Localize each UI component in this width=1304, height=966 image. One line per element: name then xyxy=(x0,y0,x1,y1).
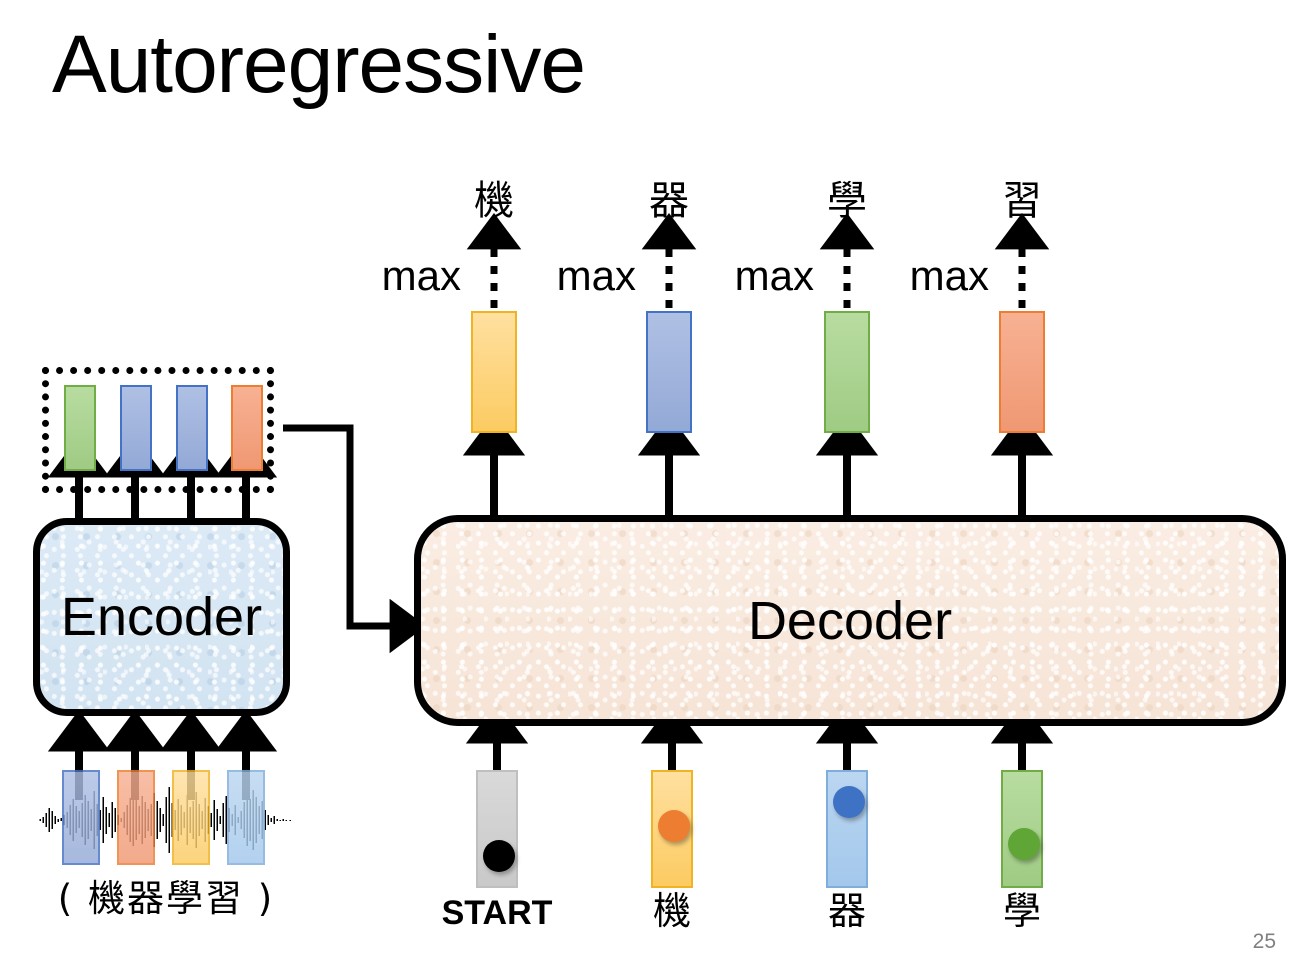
encoder-output-vector-1 xyxy=(64,385,96,471)
waveform-segment-1 xyxy=(62,770,100,865)
output-token-3: 學 xyxy=(802,181,892,221)
encoder-to-decoder-connector xyxy=(283,428,405,626)
distribution-bar-3 xyxy=(824,311,870,433)
decoder-input-bar-4 xyxy=(1001,770,1043,888)
encoder-output-vector-4 xyxy=(231,385,263,471)
decoder-input-label-1: START xyxy=(427,896,567,930)
decoder-input-dot-4 xyxy=(1008,828,1040,860)
decoder-input-dot-3 xyxy=(833,786,865,818)
decoder-input-label-3: 器 xyxy=(777,892,917,930)
decoder-input-dot-2 xyxy=(658,810,690,842)
page-number: 25 xyxy=(1253,930,1276,954)
decoder-module[interactable]: Decoder xyxy=(414,515,1286,726)
max-label-2: max xyxy=(516,252,636,300)
encoder-input-caption: ( 機器學習 ) xyxy=(38,868,294,922)
encoder-label: Encoder xyxy=(61,586,262,648)
slide-canvas: Autoregressive xyxy=(0,0,1304,966)
encoder-output-vector-3 xyxy=(176,385,208,471)
decoder-input-bar-2 xyxy=(651,770,693,888)
decoder-input-bar-1 xyxy=(476,770,518,888)
waveform-segment-3 xyxy=(172,770,210,865)
encoder-module[interactable]: Encoder xyxy=(33,518,290,716)
output-token-1: 機 xyxy=(449,181,539,221)
decoder-label: Decoder xyxy=(748,590,952,652)
distribution-bar-2 xyxy=(646,311,692,433)
decoder-input-label-4: 學 xyxy=(952,892,1092,930)
waveform-to-encoder-arrows xyxy=(79,734,246,800)
decoder-to-distribution-arrows xyxy=(494,438,1022,518)
distribution-bar-1 xyxy=(471,311,517,433)
encoder-output-vector-2 xyxy=(120,385,152,471)
max-label-1: max xyxy=(341,252,461,300)
decoder-input-arrows xyxy=(497,726,1022,790)
max-label-4: max xyxy=(869,252,989,300)
output-token-2: 器 xyxy=(624,181,714,221)
distribution-bar-4 xyxy=(999,311,1045,433)
waveform-segment-4 xyxy=(227,770,265,865)
decoder-input-bar-3 xyxy=(826,770,868,888)
output-token-4: 習 xyxy=(977,181,1067,221)
max-label-3: max xyxy=(694,252,814,300)
decoder-input-dot-1 xyxy=(483,840,515,872)
decoder-input-label-2: 機 xyxy=(602,892,742,930)
waveform-segment-2 xyxy=(117,770,155,865)
page-title: Autoregressive xyxy=(52,22,585,108)
